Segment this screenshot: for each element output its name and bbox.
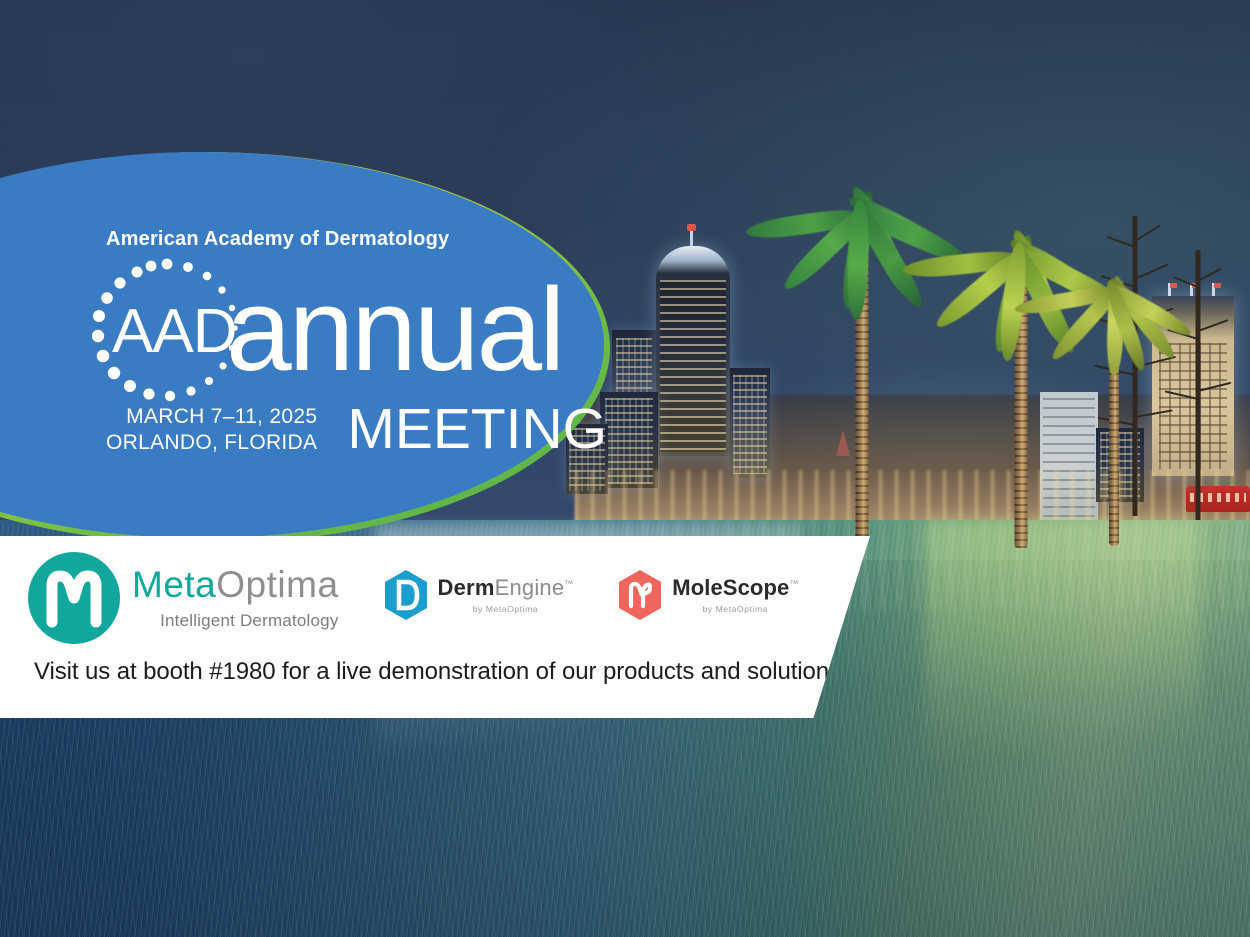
aad-mark-row: AAD annual (104, 257, 574, 407)
molescope-byline: by MetaOptima (672, 604, 798, 614)
water-sheen-right (925, 520, 1200, 850)
aad-meeting-label: MEETING (331, 401, 607, 458)
tower-antenna (690, 228, 693, 248)
metaoptima-logo[interactable]: MetaOptima Intelligent Dermatology (28, 552, 339, 644)
metaoptima-wordmark: MetaOptima Intelligent Dermatology (132, 566, 339, 631)
metaoptima-name-meta: Meta (132, 564, 216, 605)
aad-letters: AAD (112, 301, 236, 363)
dermengine-wordmark: DermEngine™ by MetaOptima (438, 577, 574, 614)
promo-banner-stage: American Academy of Dermatology (0, 0, 1250, 937)
building-round-tower (656, 246, 730, 456)
logo-row: MetaOptima Intelligent Dermatology DermE… (28, 552, 798, 644)
molescope-logo[interactable]: MoleScope™ by MetaOptima (617, 569, 798, 621)
dermengine-name: DermEngine™ (438, 577, 574, 599)
aad-date: MARCH 7–11, 2025 (106, 404, 317, 430)
molescope-wordmark: MoleScope™ by MetaOptima (672, 577, 798, 614)
metaoptima-name-optima: Optima (216, 564, 338, 605)
dermengine-name-derm: Derm (438, 575, 495, 600)
aad-annual-wordmark: annual (226, 271, 562, 389)
dermengine-byline: by MetaOptima (438, 604, 574, 614)
booth-cta-text: Visit us at booth #1980 for a live demon… (34, 658, 848, 686)
molescope-name: MoleScope™ (672, 577, 798, 599)
molescope-name-scope: Scope (723, 575, 790, 600)
molescope-trademark: ™ (789, 578, 798, 588)
molescope-hexagon-m-icon (617, 569, 663, 621)
palm-tree-3 (1024, 276, 1204, 546)
sponsor-banner: MetaOptima Intelligent Dermatology DermE… (0, 536, 870, 718)
molescope-name-mole: Mole (672, 575, 723, 600)
metaoptima-name: MetaOptima (132, 566, 339, 603)
dermengine-logo[interactable]: DermEngine™ by MetaOptima (383, 569, 574, 621)
dermengine-trademark: ™ (564, 578, 573, 588)
aad-location: ORLANDO, FLORIDA (106, 430, 317, 456)
aad-date-location: MARCH 7–11, 2025 ORLANDO, FLORIDA (106, 404, 331, 455)
aad-organization-name: American Academy of Dermatology (106, 228, 574, 251)
aad-meeting-row: MARCH 7–11, 2025 ORLANDO, FLORIDA MEETIN… (106, 401, 574, 458)
aad-logo-content: American Academy of Dermatology (104, 228, 574, 458)
dermengine-hexagon-d-icon (383, 569, 429, 621)
metaoptima-tagline: Intelligent Dermatology (132, 611, 339, 631)
metaoptima-m-circle-icon (28, 552, 120, 644)
dermengine-name-engine: Engine (495, 575, 565, 600)
